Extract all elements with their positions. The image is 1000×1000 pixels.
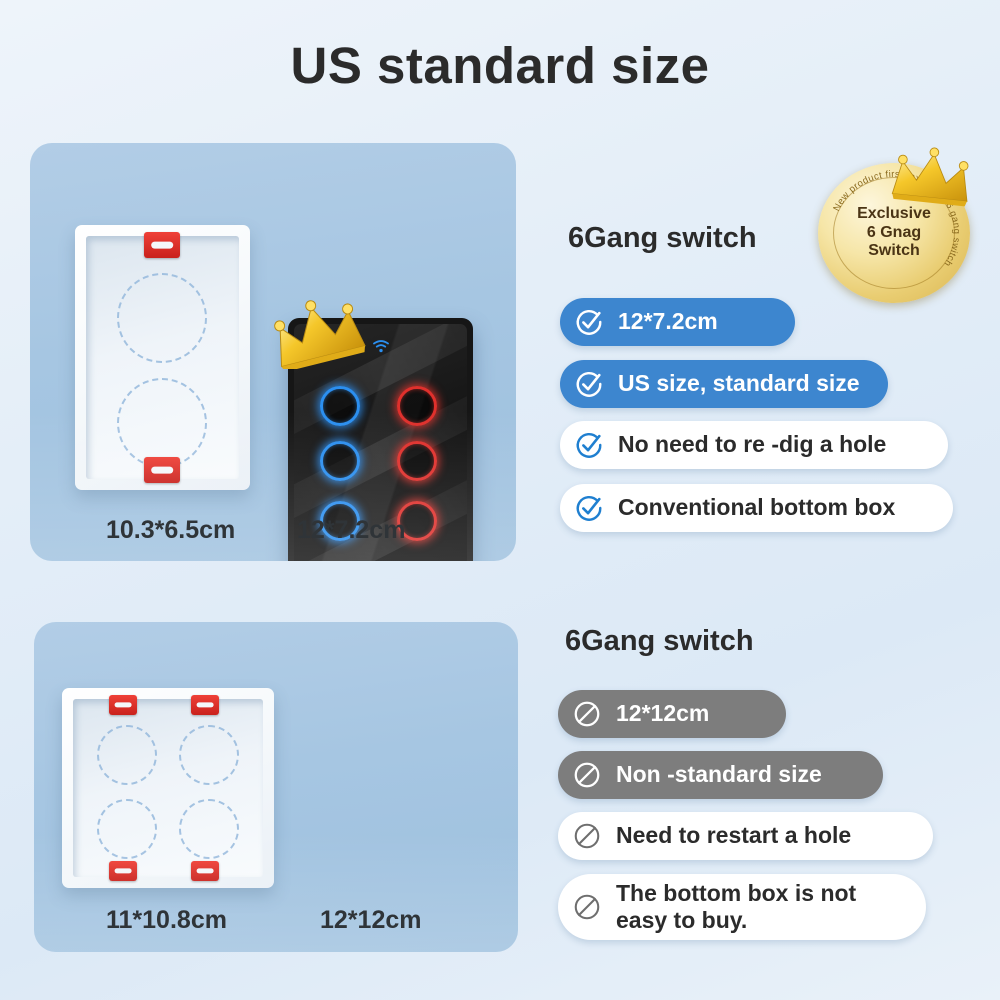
prohibited-icon (572, 699, 602, 729)
badge-line-2: 6 Gnag (818, 224, 970, 243)
check-circle-icon (574, 369, 604, 399)
heading-top-section: 6Gang switch (568, 222, 757, 255)
feature-pill-label: 12*7.2cm (618, 308, 718, 335)
feature-pill[interactable]: The bottom box is not easy to buy. (558, 874, 926, 940)
wifi-icon (372, 340, 390, 354)
heading-bottom-section: 6Gang switch (565, 625, 754, 658)
wall-box-cavity (86, 236, 239, 479)
prohibited-icon (572, 821, 602, 851)
wall-box-bottom (62, 688, 274, 888)
mounting-tab (191, 695, 219, 715)
caption-switch-bottom: 12*12cm (320, 906, 421, 935)
mounting-tab (144, 457, 180, 483)
check-circle-icon (574, 493, 604, 523)
caption-wallbox-bottom: 11*10.8cm (106, 906, 227, 935)
feature-pill[interactable]: No need to re -dig a hole (560, 421, 948, 469)
feature-pill-label: Need to restart a hole (616, 822, 851, 849)
check-circle-icon (574, 307, 604, 337)
touch-button-ring[interactable] (397, 386, 437, 426)
feature-pill-label: No need to re -dig a hole (618, 431, 886, 458)
wall-box-cavity (73, 699, 263, 877)
feature-pill[interactable]: Need to restart a hole (558, 812, 933, 860)
touch-button-ring[interactable] (320, 386, 360, 426)
knockout-circle (97, 799, 157, 859)
wall-box-top (75, 225, 250, 490)
feature-pill[interactable]: 12*7.2cm (560, 298, 795, 346)
badge-center-text: Exclusive 6 Gnag Switch (818, 205, 970, 261)
product-scene-bottom (34, 622, 518, 952)
feature-pill-label: Conventional bottom box (618, 494, 895, 521)
feature-pill[interactable]: 12*12cm (558, 690, 786, 738)
exclusive-badge: New product first, exclusive 6 gang swit… (818, 163, 970, 303)
mounting-tab (191, 861, 219, 881)
knockout-circle (117, 378, 207, 468)
feature-pill-label: The bottom box is not easy to buy. (616, 880, 856, 934)
crown-icon (884, 139, 980, 209)
mounting-tab (109, 695, 137, 715)
knockout-circle (179, 725, 239, 785)
knockout-circle (179, 799, 239, 859)
feature-pill-label: US size, standard size (618, 370, 860, 397)
touch-button-ring[interactable] (320, 441, 360, 481)
knockout-circle (117, 273, 207, 363)
prohibited-icon (572, 760, 602, 790)
feature-pill-label: Non -standard size (616, 761, 822, 788)
feature-pill[interactable]: Conventional bottom box (560, 484, 953, 532)
feature-pill[interactable]: US size, standard size (560, 360, 888, 408)
product-scene-top (30, 143, 516, 561)
feature-pill[interactable]: Non -standard size (558, 751, 883, 799)
caption-wallbox-top: 10.3*6.5cm (106, 516, 235, 545)
mounting-tab (144, 232, 180, 258)
feature-pill-label: 12*12cm (616, 700, 709, 727)
touch-button-ring[interactable] (397, 441, 437, 481)
crown-icon (262, 291, 372, 369)
mounting-tab (109, 861, 137, 881)
prohibited-icon (572, 892, 602, 922)
check-circle-icon (574, 430, 604, 460)
badge-line-3: Switch (818, 242, 970, 261)
knockout-circle (97, 725, 157, 785)
caption-switch-top: 12*7.2cm (297, 516, 405, 545)
page-title: US standard size (0, 36, 1000, 95)
